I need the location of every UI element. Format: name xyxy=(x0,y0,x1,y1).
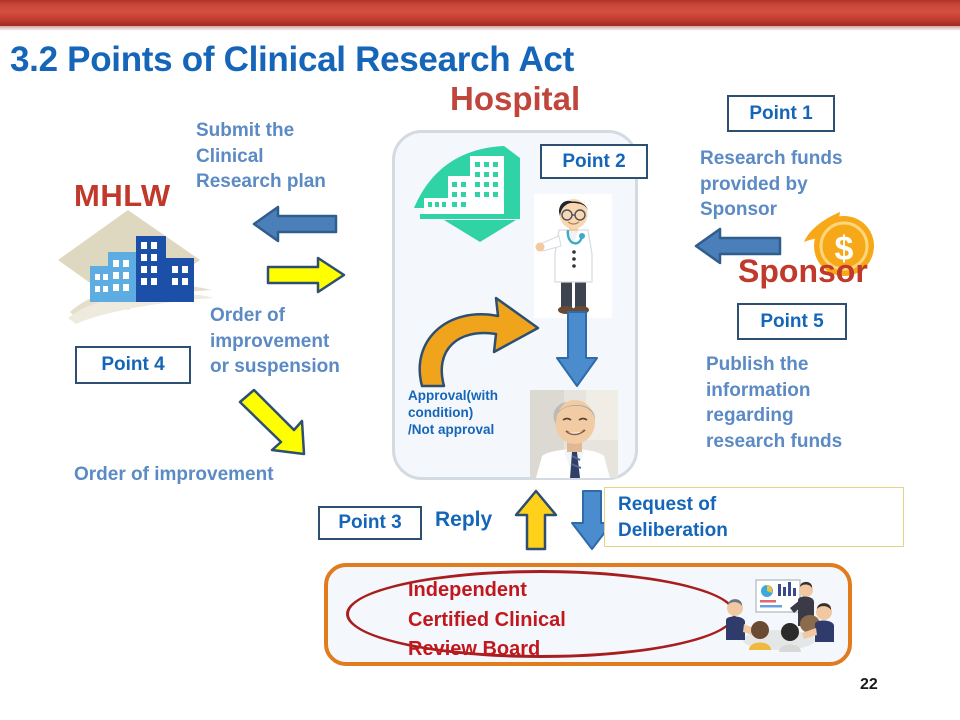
arrow-down-blue-icon xyxy=(554,310,600,388)
publish-info-label: Publish theinformationregardingresearch … xyxy=(706,352,936,455)
arrow-up-yellow-icon xyxy=(514,489,558,551)
point-5-badge[interactable]: Point 5 xyxy=(737,303,847,340)
arrow-right-yellow-icon xyxy=(266,256,346,294)
reply-label: Reply xyxy=(435,508,492,532)
senior-doctor-photo xyxy=(530,390,618,478)
hospital-building-icon xyxy=(408,142,532,246)
top-accent-band-shadow xyxy=(0,26,960,31)
point-4-badge[interactable]: Point 4 xyxy=(75,346,191,384)
order-improvement-label: Order of improvement xyxy=(74,462,394,488)
meeting-people-icon xyxy=(720,578,838,656)
order-improvement-suspension-label: Order ofimprovementor suspension xyxy=(210,303,410,380)
point-1-badge[interactable]: Point 1 xyxy=(727,95,835,132)
submit-plan-label: Submit theClinicalResearch plan xyxy=(196,118,396,195)
sponsor-heading: Sponsor xyxy=(738,253,868,290)
point-2-badge[interactable]: Point 2 xyxy=(540,144,648,179)
arrow-left-blue-icon xyxy=(252,203,338,245)
page-number: 22 xyxy=(860,676,878,694)
point-3-badge[interactable]: Point 3 xyxy=(318,506,422,540)
approval-status-label: Approval(withcondition)/Not approval xyxy=(408,388,528,439)
top-accent-band xyxy=(0,0,960,26)
arrow-curved-orange-icon xyxy=(412,290,562,395)
arrow-diagonal-yellow-icon xyxy=(236,388,316,460)
government-building-icon xyxy=(62,208,222,323)
request-deliberation-label: Request ofDeliberation xyxy=(618,492,728,543)
page-title: 3.2 Points of Clinical Research Act xyxy=(10,40,574,80)
review-board-label: IndependentCertified ClinicalReview Boar… xyxy=(408,576,566,665)
slide-canvas: 3.2 Points of Clinical Research Act Hosp… xyxy=(0,0,960,720)
hospital-heading: Hospital xyxy=(450,80,580,118)
